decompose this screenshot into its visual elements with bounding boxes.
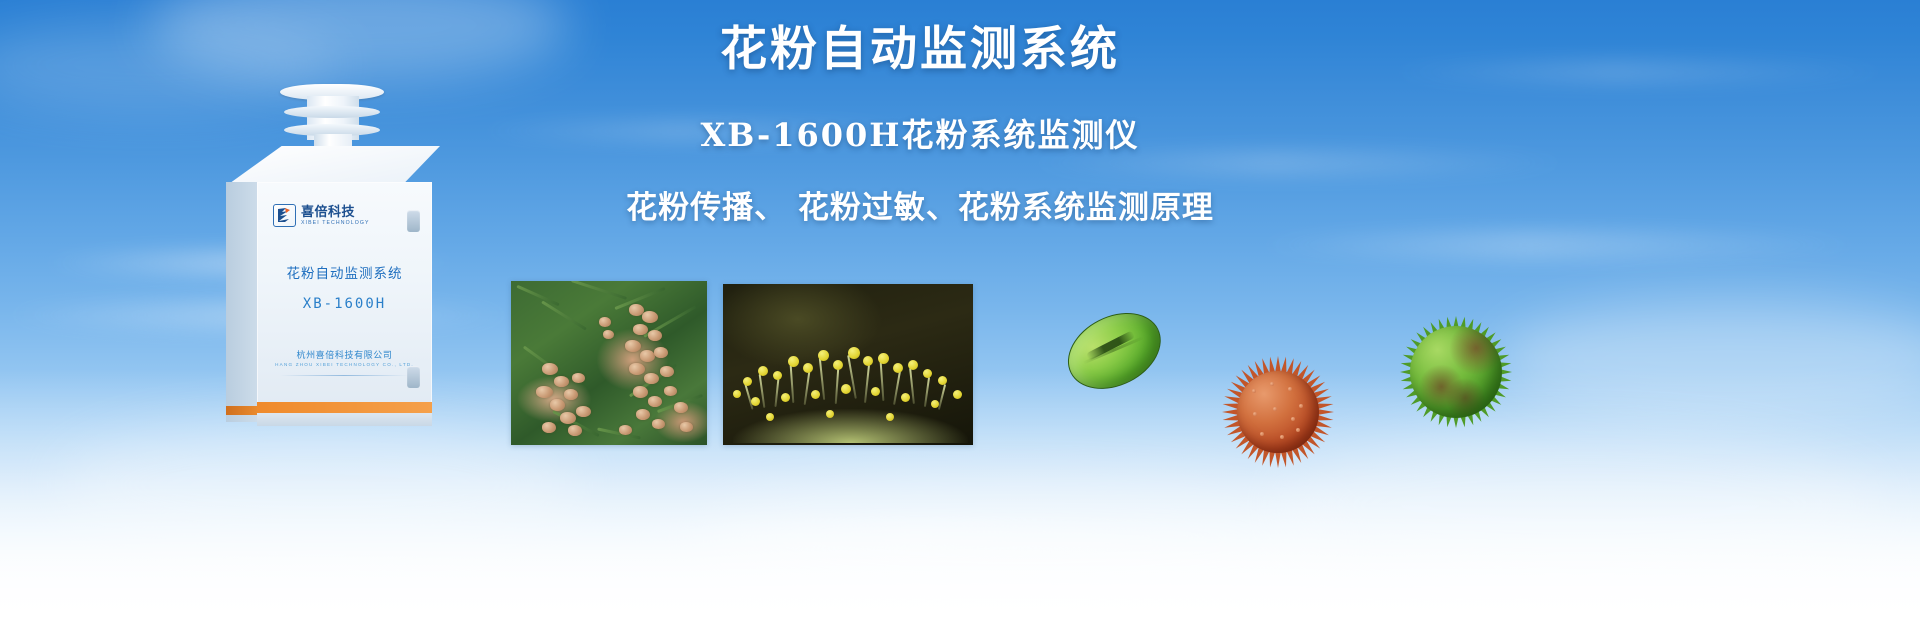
cabinet-accent-bar — [257, 402, 432, 413]
cedar-pollen-cones-photo — [511, 281, 707, 445]
xibei-bird-icon — [273, 204, 296, 227]
pollen-spike — [1275, 451, 1281, 468]
red-spiky-grain-body — [1237, 371, 1319, 453]
product-subtitle: XB-1600H花粉系统监测仪 — [540, 110, 1300, 156]
brand-logo: 喜倍科技 XIBEI TECHNOLOGY — [273, 204, 370, 227]
topic-subtitle: 花粉传播、 花粉过敏、花粉系统监测原理 — [540, 182, 1300, 227]
cedar-photo-content — [511, 281, 707, 445]
headline-block: 花粉自动监测系统 XB-1600H花粉系统监测仪 花粉传播、 花粉过敏、花粉系统… — [540, 24, 1300, 227]
instrument-cabinet: 喜倍科技 XIBEI TECHNOLOGY 花粉自动监测系统 XB-1600H … — [218, 84, 448, 429]
chimney-ring-upper — [284, 106, 380, 118]
cabinet-accent-bar-side — [226, 406, 257, 415]
cabinet-company-en: HANG ZHOU XIBEI TECHNOLOGY CO., LTD. — [257, 362, 432, 367]
cabinet-panel-title: 花粉自动监测系统 — [257, 262, 432, 282]
brand-logo-text: 喜倍科技 XIBEI TECHNOLOGY — [301, 205, 370, 226]
cabinet-model-number: XB-1600H — [257, 296, 432, 312]
green-spiky-grain-body — [1410, 326, 1502, 418]
cabinet-divider — [280, 375, 408, 376]
cabinet-handle-upper[interactable] — [407, 210, 420, 232]
catkin-photo-content — [723, 284, 973, 445]
red-spiky-pollen-grain — [1222, 356, 1334, 468]
cabinet-top-panel — [226, 146, 440, 186]
brand-name-en: XIBEI TECHNOLOGY — [301, 221, 370, 226]
cabinet-company-cn: 杭州喜倍科技有限公司 — [257, 348, 432, 361]
pollen-monitoring-banner: 花粉自动监测系统 XB-1600H花粉系统监测仪 花粉传播、 花粉过敏、花粉系统… — [0, 0, 1920, 619]
cabinet-base — [257, 413, 432, 426]
cabinet-handle-lower[interactable] — [407, 366, 420, 388]
brand-name-cn: 喜倍科技 — [301, 205, 370, 218]
green-spiky-pollen-grain — [1400, 316, 1512, 428]
yellow-catkin-anthers-photo — [723, 284, 973, 445]
page-title: 花粉自动监测系统 — [540, 24, 1300, 76]
